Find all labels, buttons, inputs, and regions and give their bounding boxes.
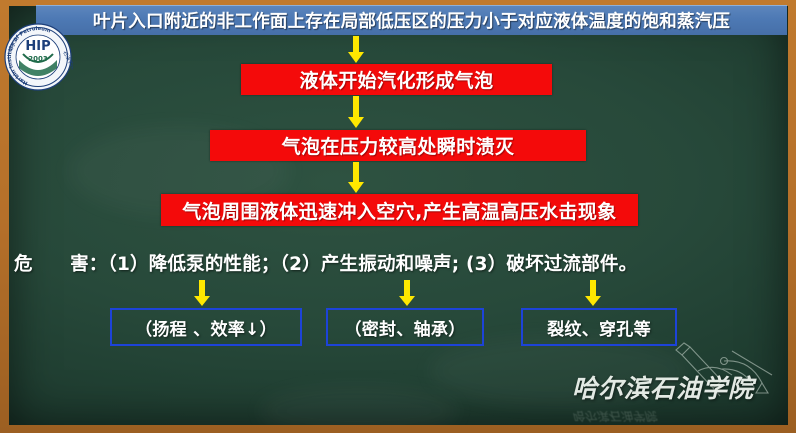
result-box-1-text: （扬程 、效率↓） [135, 315, 277, 340]
flow-arrow-down-1 [347, 36, 365, 64]
flow-box-3-text: 气泡周围液体迅速冲入空穴,产生高温高压水击现象 [182, 197, 616, 224]
result-arrow-down-2 [399, 280, 415, 307]
svg-text:HIP: HIP [25, 39, 50, 54]
school-seal-logo: HIP 2003 Harbin Institute of Petroleum 哈… [3, 22, 73, 92]
flow-arrow-down-2 [347, 96, 365, 129]
seal-year: 2003 [28, 55, 48, 63]
header-banner-text: 叶片入口附近的非工作面上存在局部低压区的压力小于对应液体温度的饱和蒸汽压 [93, 8, 730, 33]
result-arrow-down-3 [585, 280, 601, 307]
result-box-2-text: （密封、轴承） [344, 315, 465, 340]
result-arrow-down-1 [194, 280, 210, 307]
header-banner: 叶片入口附近的非工作面上存在局部低压区的压力小于对应液体温度的饱和蒸汽压 [36, 5, 787, 35]
flow-box-1-text: 液体开始汽化形成气泡 [299, 66, 493, 93]
chalk-smudge [259, 386, 459, 425]
result-box-3-text: 裂纹、穿孔等 [547, 315, 651, 340]
flow-box-3: 气泡周围液体迅速冲入空穴,产生高温高压水击现象 [161, 194, 638, 226]
flow-box-2-text: 气泡在压力较高处瞬时溃灭 [282, 132, 515, 159]
result-box-2: （密封、轴承） [326, 308, 484, 346]
flow-box-1: 液体开始汽化形成气泡 [241, 64, 552, 95]
harm-description-line: 危 害：（1）降低泵的性能；（2）产生振动和噪声; (3）破坏过流部件。 [14, 248, 784, 278]
chalk-smudge [429, 336, 689, 406]
flow-box-2: 气泡在压力较高处瞬时溃灭 [210, 130, 586, 161]
presentation-slide: 叶片入口附近的非工作面上存在局部低压区的压力小于对应液体温度的饱和蒸汽压 HIP… [0, 0, 796, 433]
result-box-3: 裂纹、穿孔等 [521, 308, 677, 346]
flow-arrow-down-3 [347, 162, 365, 194]
result-box-1: （扬程 、效率↓） [110, 308, 302, 346]
